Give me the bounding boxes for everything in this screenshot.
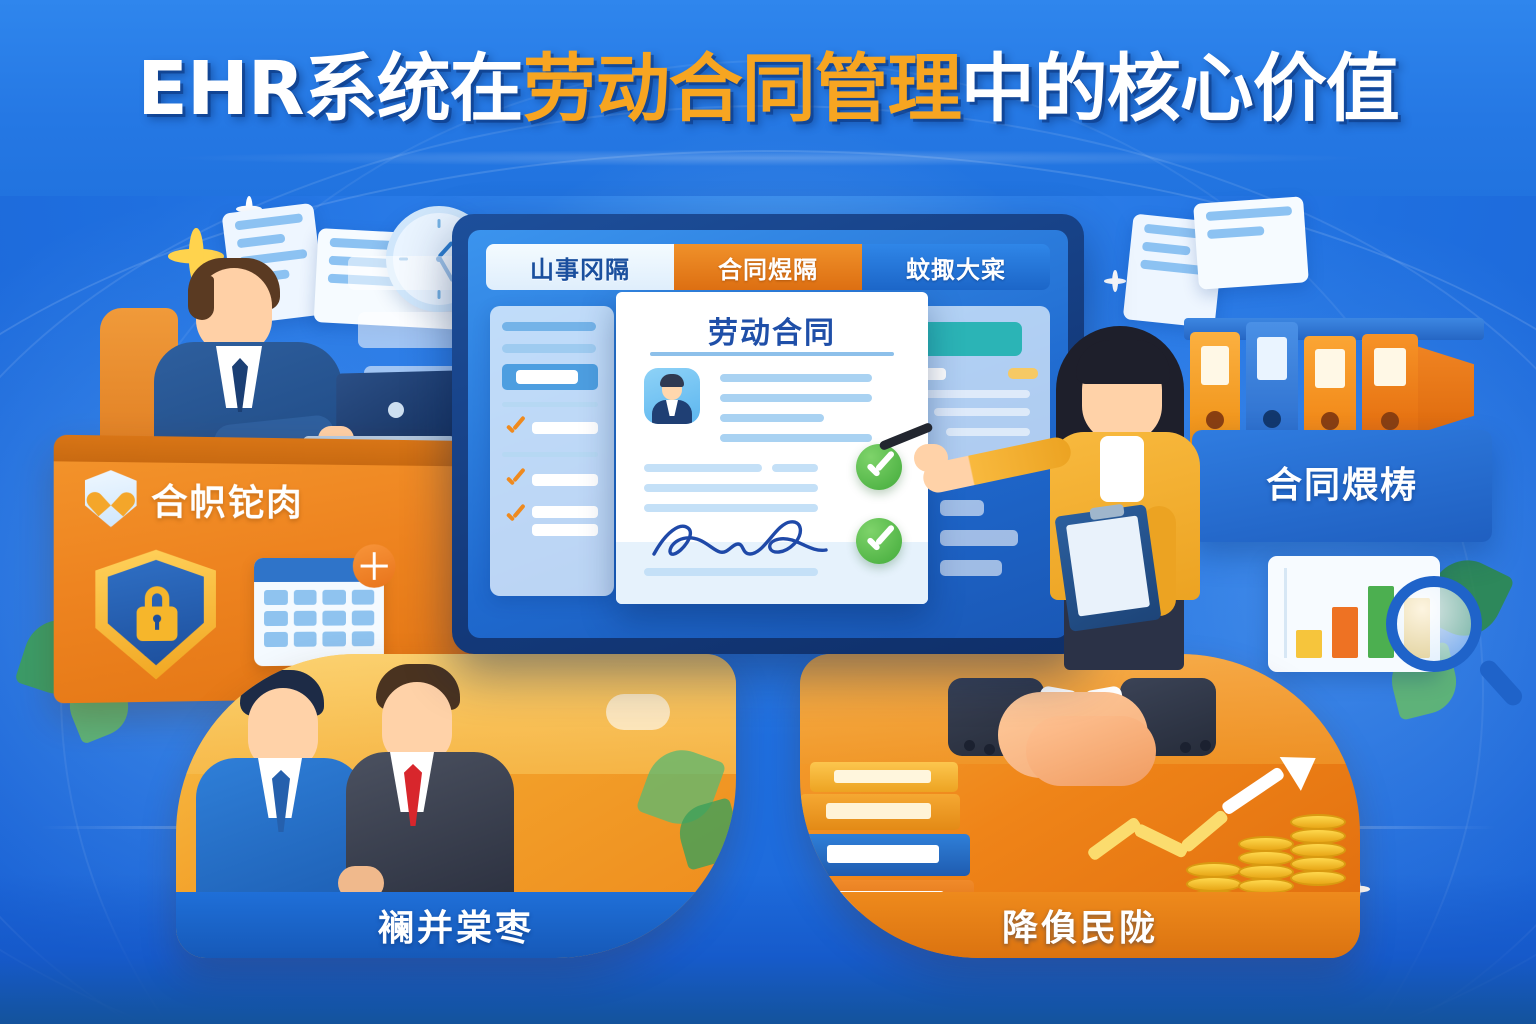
title-segment-core-value: 核心价值: [1107, 52, 1399, 126]
title-segment-system: 系统在: [304, 52, 523, 126]
trending-up-icon: [1180, 809, 1230, 854]
cloud-decor: [606, 694, 670, 730]
cost-ribbon: 降偩民陇: [800, 654, 1360, 958]
calendar-alert-badge: [353, 544, 396, 588]
cuff-button: [1200, 740, 1211, 751]
compliance-label-group: 合帜铊肉: [85, 470, 304, 528]
monitor-frame: 山事冈隔 合同煜隔 蚊掫大寀: [452, 214, 1084, 654]
monitor: 山事冈隔 合同煜隔 蚊掫大寀: [452, 214, 1084, 654]
trending-up-icon: [1086, 816, 1142, 862]
title-underglow: [178, 150, 1358, 166]
shield-heart-icon: [85, 470, 137, 527]
cuff-button: [984, 744, 995, 755]
title-segment-highlight: 劳动合同管理: [523, 52, 961, 126]
checkmark-icon: [504, 470, 524, 490]
trending-up-icon: [1220, 766, 1285, 816]
page-title-area: EHR系统在劳动合同管理中的核心价值: [0, 52, 1536, 126]
handshake-grip: [1026, 716, 1156, 786]
hr-specialist-illustration: [1020, 320, 1240, 670]
checkmark-icon: [504, 506, 524, 526]
panel-ghost-bar: [940, 500, 984, 516]
clipboard-paper: [1066, 515, 1150, 616]
checkmark-icon: [504, 418, 524, 438]
monitor-screen: 山事冈隔 合同煜隔 蚊掫大寀: [468, 230, 1068, 638]
presenter-hair-front: [1076, 340, 1170, 384]
compliance-label: 合帜铊肉: [151, 473, 304, 527]
tab-contract-management[interactable]: 合同煜隔: [674, 244, 862, 290]
sparkle-icon: [1104, 270, 1126, 292]
cost-footer: 降偩民陇: [800, 892, 1360, 958]
compliance-panel-top: [54, 435, 482, 467]
document-icon: [1193, 196, 1309, 289]
page-title: EHR系统在劳动合同管理中的核心价值: [137, 52, 1398, 126]
magnifier-icon: [1386, 576, 1482, 672]
book-icon: [800, 834, 970, 876]
presenter-shirt: [1100, 436, 1144, 502]
calendar-icon: [254, 558, 384, 666]
book-icon: [800, 794, 960, 830]
signature: [646, 510, 836, 566]
employee-hair-side: [188, 276, 214, 320]
infographic-canvas: EHR系统在劳动合同管理中的核心价值: [0, 0, 1536, 1024]
efficiency-footer: 襕并棠枣: [176, 892, 736, 958]
laptop-logo: [388, 402, 404, 418]
checklist-panel: [490, 306, 614, 596]
chart-y-axis: [1284, 568, 1287, 658]
efficiency-ribbon: 襕并棠枣: [176, 654, 736, 958]
app-tab-bar: 山事冈隔 合同煜隔 蚊掫大寀: [486, 244, 1050, 290]
trending-up-icon: [1133, 823, 1189, 859]
tab-data-dashboard[interactable]: 蚊掫大寀: [862, 244, 1050, 290]
presenter-hand: [914, 444, 948, 472]
approval-check-icon: [856, 444, 902, 490]
cost-label: 降偩民陇: [1002, 899, 1158, 951]
contract-divider: [650, 352, 894, 356]
panel-ghost-bar: [940, 560, 1002, 576]
contract-heading: 劳动合同: [616, 308, 928, 352]
tab-hr-archive[interactable]: 山事冈隔: [486, 244, 674, 290]
title-segment-middle: 中的: [961, 52, 1107, 126]
title-segment-ehr: EHR: [137, 52, 303, 126]
book-icon: [810, 762, 958, 792]
efficiency-label: 襕并棠枣: [378, 899, 534, 951]
cuff-button: [964, 740, 975, 751]
approval-check-icon: [856, 518, 902, 564]
coin-stack-icon: [1290, 870, 1346, 886]
panel-ghost-bar: [940, 530, 1018, 546]
chart-bar: [1332, 607, 1358, 658]
avatar: [644, 368, 700, 424]
cuff-button: [1180, 742, 1191, 753]
